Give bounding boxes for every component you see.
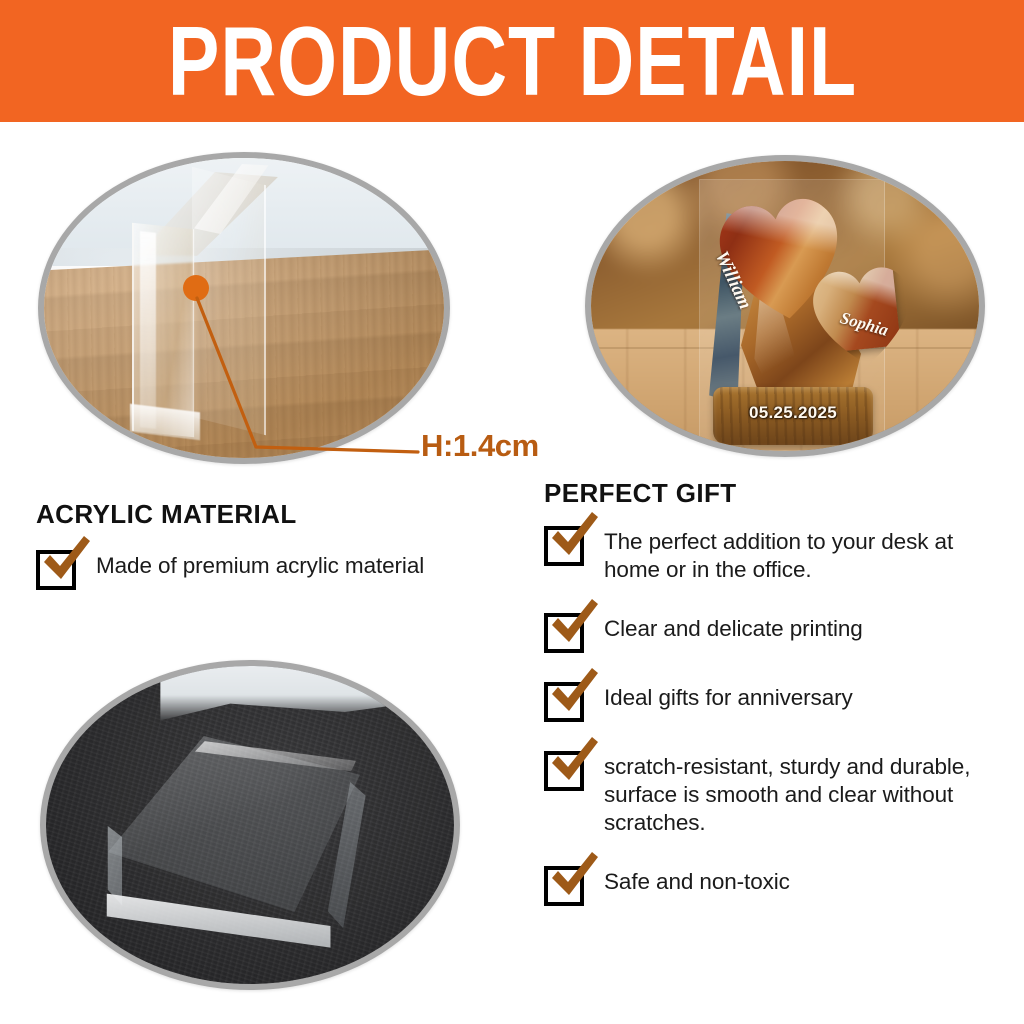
section-title-perfect-gift: PERFECT GIFT <box>544 478 737 509</box>
feature-item: The perfect addition to your desk at hom… <box>544 524 1014 584</box>
plaque-date-engraving: 05.25.2025 <box>713 403 873 423</box>
feature-text: The perfect addition to your desk at hom… <box>604 524 1014 584</box>
check-icon <box>544 595 602 653</box>
checkbox-checked[interactable] <box>544 682 584 722</box>
checkbox-checked[interactable] <box>544 613 584 653</box>
section-title-acrylic-material: ACRYLIC MATERIAL <box>36 499 297 530</box>
feature-item: Clear and delicate printing <box>544 611 1014 653</box>
feature-item: Ideal gifts for anniversary <box>544 680 1014 722</box>
feature-item: Made of premium acrylic material <box>36 548 516 590</box>
checkbox-checked[interactable] <box>36 550 76 590</box>
feature-text: Safe and non-toxic <box>604 864 790 896</box>
acrylic-slab-edge-highlight <box>140 231 156 429</box>
check-icon <box>544 848 602 906</box>
acrylic-block-photo <box>40 660 460 990</box>
check-icon <box>544 733 602 791</box>
acrylic-slab-body <box>192 167 266 435</box>
check-icon <box>544 664 602 722</box>
checkbox-checked[interactable] <box>544 526 584 566</box>
heart-right: Sophia <box>786 244 907 363</box>
feature-text: Ideal gifts for anniversary <box>604 680 853 712</box>
checkbox-checked[interactable] <box>544 751 584 791</box>
page-title: PRODUCT DETAIL <box>167 12 856 110</box>
feature-item: scratch-resistant, sturdy and durable, s… <box>544 749 1014 837</box>
heart-right-shape <box>802 257 901 355</box>
check-icon <box>36 532 94 590</box>
feature-text: Made of premium acrylic material <box>96 548 424 580</box>
acrylic-edge-photo <box>38 152 450 464</box>
page-header-banner: PRODUCT DETAIL <box>0 0 1024 122</box>
checkbox-checked[interactable] <box>544 866 584 906</box>
feature-list-acrylic-material: Made of premium acrylic material <box>36 548 516 610</box>
thickness-label: H:1.4cm <box>421 428 539 464</box>
check-icon <box>544 508 602 566</box>
feature-text: scratch-resistant, sturdy and durable, s… <box>604 749 1014 837</box>
feature-list-perfect-gift: The perfect addition to your desk at hom… <box>544 524 1014 933</box>
heart-plaque-photo: William Sophia 05.25.2025 <box>585 155 985 457</box>
feature-text: Clear and delicate printing <box>604 611 863 643</box>
feature-item: Safe and non-toxic <box>544 864 1014 906</box>
